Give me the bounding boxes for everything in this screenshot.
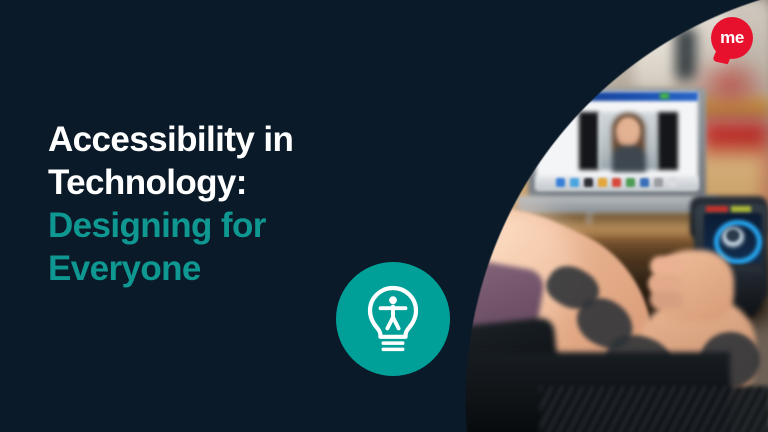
slide-canvas: Accessibility in Technology: Designing f…	[0, 0, 768, 432]
laptop-base	[518, 196, 718, 213]
dock-icon	[654, 178, 663, 187]
subtitle-line-1: Designing for	[48, 205, 408, 248]
video-call-letterbox-right	[658, 112, 678, 170]
joystick-indicator-red	[706, 206, 728, 212]
accessibility-badge	[336, 262, 450, 376]
video-call-person-torso	[612, 146, 646, 172]
photo-finger	[650, 256, 684, 276]
dock-icon	[556, 178, 565, 187]
title-line-1: Accessibility in	[48, 119, 408, 162]
video-call-person-face-highlight	[618, 118, 639, 140]
page-title: Accessibility in Technology: Designing f…	[48, 119, 408, 290]
dock-icon	[584, 178, 593, 187]
laptop-menubar	[536, 92, 698, 101]
dock-icon	[668, 178, 677, 187]
joystick-indicator-green	[731, 206, 751, 212]
dock-icon	[598, 178, 607, 187]
accessibility-lightbulb-icon	[364, 284, 422, 354]
photo-finger	[650, 291, 684, 309]
joystick-display-glyph	[726, 229, 740, 242]
me-logo[interactable]: me	[711, 17, 753, 59]
title-line-2: Technology:	[48, 162, 408, 205]
photo-wheelchair-mesh	[540, 386, 768, 432]
dock-icon	[612, 178, 621, 187]
photo-jug-left	[633, 18, 677, 90]
dock-icon	[640, 178, 649, 187]
video-call-letterbox-left	[579, 112, 599, 170]
logo-text: me	[711, 17, 753, 59]
dock-icon	[626, 178, 635, 187]
photo-floor-glow	[300, 404, 420, 432]
dock-icon	[570, 178, 579, 187]
laptop-menubar-indicator	[660, 93, 669, 99]
